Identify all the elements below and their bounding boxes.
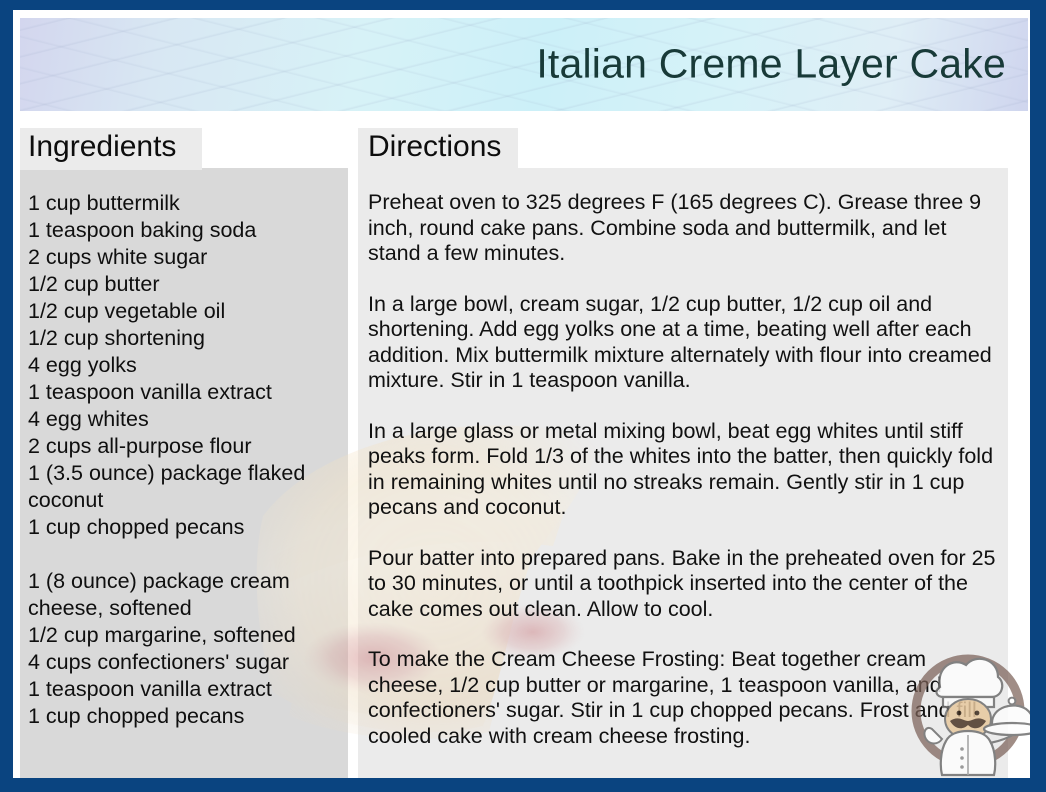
section-heading-directions: Directions [358, 128, 518, 170]
ingredient-item: 1 (8 ounce) package cream cheese, soften… [28, 568, 344, 622]
ingredient-item: 1 teaspoon vanilla extract [28, 379, 344, 406]
ingredient-item: 1 (3.5 ounce) package flaked coconut [28, 460, 344, 514]
ingredient-item: 1 cup buttermilk [28, 190, 344, 217]
ingredient-item: 4 egg whites [28, 406, 344, 433]
section-heading-ingredients: Ingredients [20, 128, 202, 170]
ingredient-item: 2 cups all-purpose flour [28, 433, 344, 460]
page-border-left [0, 0, 13, 792]
ingredient-item: 2 cups white sugar [28, 244, 344, 271]
ingredient-item: 1/2 cup butter [28, 271, 344, 298]
ingredient-item: 1/2 cup margarine, softened [28, 622, 344, 649]
ingredient-item: 1/2 cup shortening [28, 325, 344, 352]
ingredient-item: 1/2 cup vegetable oil [28, 298, 344, 325]
recipe-page: Italian Creme Layer Cake [0, 0, 1046, 792]
ingredient-group-separator [28, 541, 344, 568]
ingredient-item: 1 teaspoon baking soda [28, 217, 344, 244]
page-border-top [0, 0, 1046, 10]
ingredient-item: 4 egg yolks [28, 352, 344, 379]
direction-step: Pour batter into prepared pans. Bake in … [368, 546, 1005, 623]
ingredient-item: 1 cup chopped pecans [28, 514, 344, 541]
direction-step: In a large bowl, cream sugar, 1/2 cup bu… [368, 292, 1005, 394]
header-banner: Italian Creme Layer Cake [20, 18, 1028, 111]
direction-step: In a large glass or metal mixing bowl, b… [368, 419, 1005, 521]
ingredient-item: 4 cups confectioners' sugar [28, 649, 344, 676]
page-border-right [1030, 0, 1046, 792]
ingredients-list: 1 cup buttermilk1 teaspoon baking soda2 … [20, 190, 350, 730]
direction-step: Preheat oven to 325 degrees F (165 degre… [368, 190, 1005, 267]
ingredient-item: 1 cup chopped pecans [28, 703, 344, 730]
directions-steps: Preheat oven to 325 degrees F (165 degre… [358, 190, 1013, 749]
page-border-bottom [0, 778, 1046, 792]
page-title: Italian Creme Layer Cake [536, 42, 1006, 85]
ingredient-item: 1 teaspoon vanilla extract [28, 676, 344, 703]
direction-step: To make the Cream Cheese Frosting: Beat … [368, 647, 1005, 749]
